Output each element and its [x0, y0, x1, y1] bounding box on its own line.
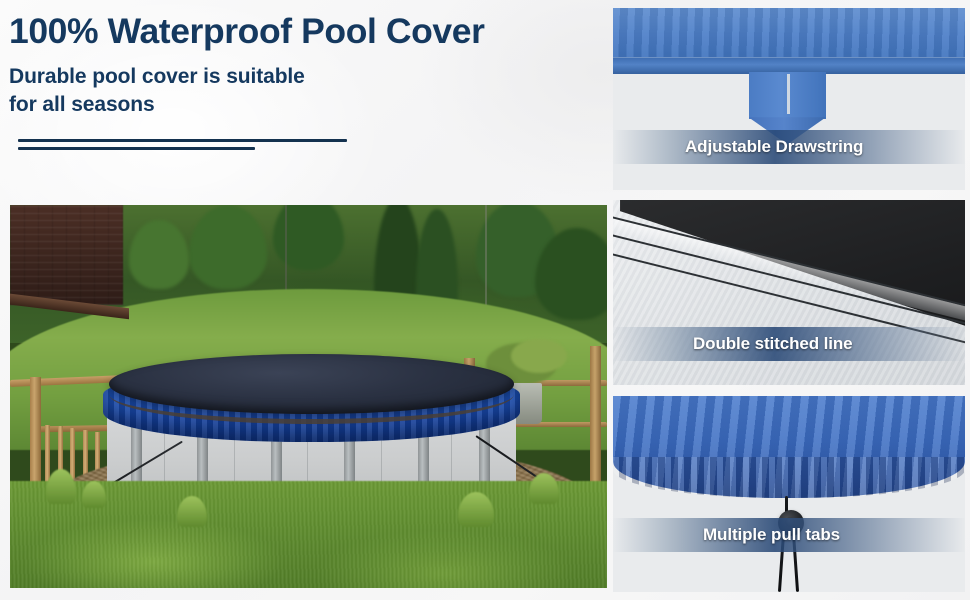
product-banner: 100% Waterproof Pool Cover Durable pool … — [0, 0, 970, 600]
elastic-gather — [613, 457, 965, 498]
panel-label-band: Multiple pull tabs — [613, 518, 965, 552]
feature-panel-drawstring: Adjustable Drawstring — [613, 8, 965, 190]
divider-line-short — [18, 147, 255, 150]
utility-pole — [485, 205, 487, 320]
cover-fabric-gathered — [613, 396, 965, 498]
page-title: 100% Waterproof Pool Cover — [9, 13, 599, 50]
header-divider-group — [18, 139, 599, 150]
divider-line-long — [18, 139, 347, 142]
grass-tuft — [46, 469, 76, 503]
tree — [273, 205, 345, 270]
panel-label-band: Adjustable Drawstring — [613, 130, 965, 164]
panel-label-band: Double stitched line — [613, 327, 965, 361]
subtitle: Durable pool cover is suitable for all s… — [9, 63, 599, 119]
feature-panel-stitching: Double stitched line — [613, 200, 965, 385]
subtitle-line-1: Durable pool cover is suitable — [9, 65, 305, 88]
grass-tuft — [458, 492, 494, 526]
feature-panel-pull-tabs: Multiple pull tabs — [613, 396, 965, 592]
subtitle-line-2: for all seasons — [9, 91, 599, 119]
drawstring-slit — [787, 74, 790, 114]
panel-label-text: Double stitched line — [693, 334, 853, 354]
house-brick-wall — [10, 205, 123, 305]
grass-tuft — [82, 481, 106, 508]
panel-label-text: Multiple pull tabs — [703, 525, 840, 545]
rail-post — [590, 346, 601, 483]
panel-label-text: Adjustable Drawstring — [685, 137, 863, 157]
header-block: 100% Waterproof Pool Cover Durable pool … — [9, 13, 599, 150]
main-product-photo — [10, 205, 607, 588]
pool-cover-rim — [109, 364, 514, 424]
